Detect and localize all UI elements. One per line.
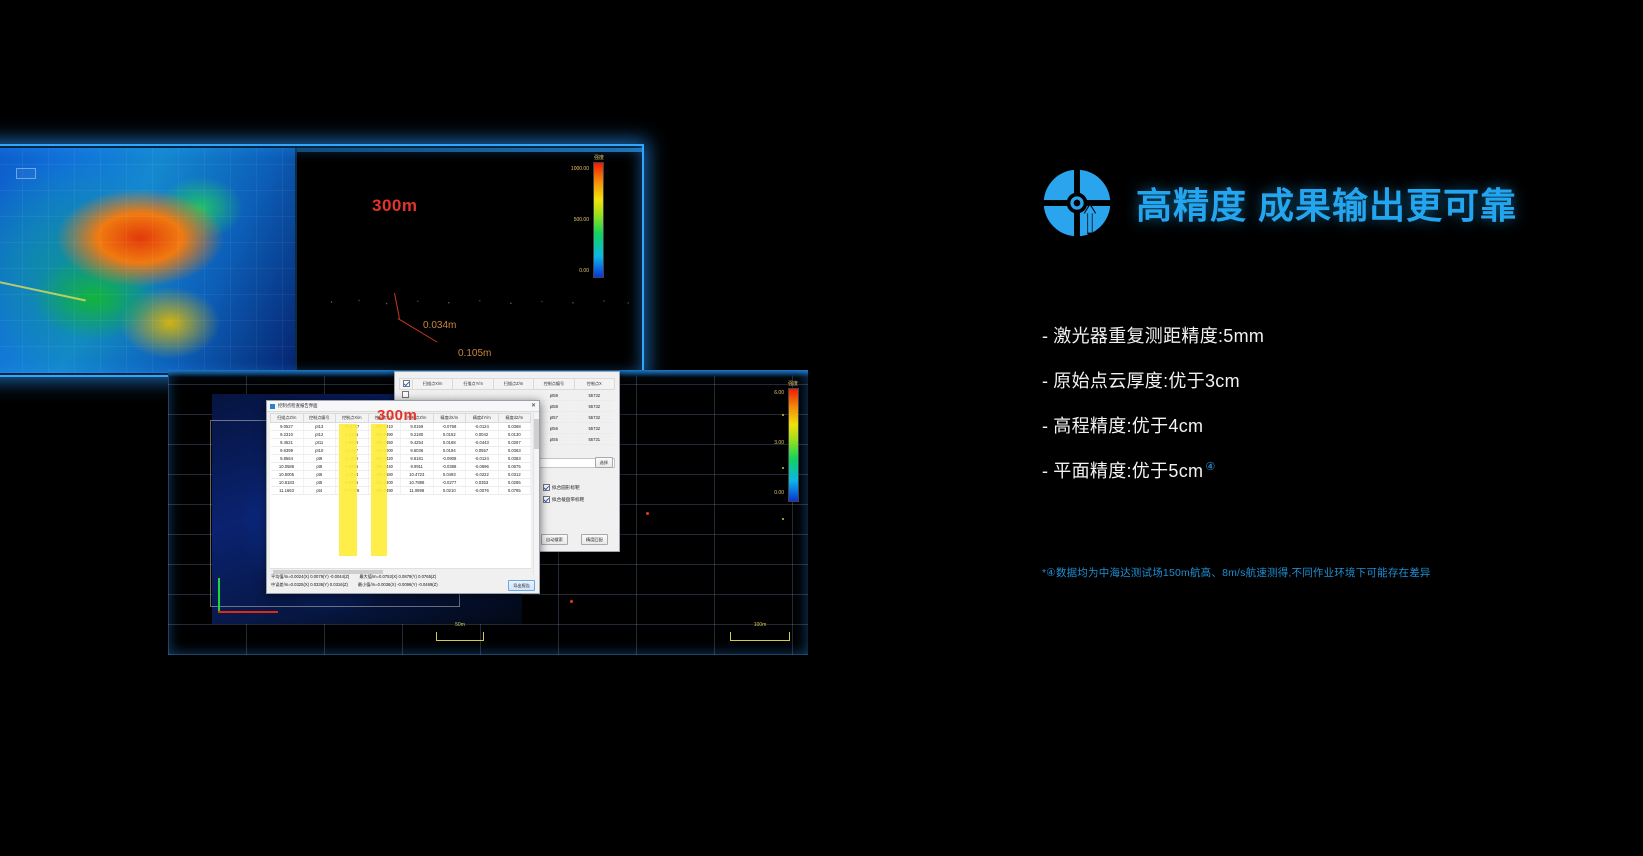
scalebar-left: 50m	[436, 632, 484, 641]
marker-point-small	[782, 414, 784, 416]
table-cell: 9.8564	[271, 455, 304, 463]
footnote-marker: ④	[1205, 461, 1215, 473]
table-cell: 0.0765	[498, 487, 531, 495]
fit-prism-target-option[interactable]: 拟合棱盘带标靶	[543, 496, 584, 503]
highlight-column-y	[371, 424, 387, 556]
table-cell: pt4	[303, 487, 336, 495]
table-cell: -0.0076	[466, 487, 499, 495]
table-cell: 9.4254	[401, 439, 434, 447]
summary-row-rmse: 中误差/m=0.0325(X) 0.0336(Y) 0.0316(Z) 最小值/…	[267, 580, 539, 590]
bullet-text: 平面精度:优于5cm	[1053, 461, 1203, 481]
bullet-dash: -	[1042, 371, 1048, 391]
back-col-header: 扫描点Y/m	[453, 379, 493, 390]
front-window-distance-overlay: 300m	[377, 407, 417, 424]
report-table[interactable]: 扫描点Z/m控制点编号控制点X/m控制点Y/m控制点Z/m精度dX/m精度dY/…	[270, 413, 531, 495]
axis-z-indicator	[218, 578, 220, 612]
table-cell: 55732	[574, 390, 614, 401]
back-col-header: 控制点编号	[534, 379, 574, 390]
control-point-report-window[interactable]: 控制点检查报告界面 ✕ 扫描点Z/m控制点编号控制点X/m控制点Y/m控制点Z/…	[266, 400, 540, 594]
back-col-header: 控制点X	[574, 379, 614, 390]
front-window-title: 控制点检查报告界面	[278, 403, 318, 409]
table-cell: -0.0768	[433, 423, 466, 431]
table-cell: pt9	[303, 455, 336, 463]
table-row[interactable]: 10.8183pt59.9206441.940010.7898-0.02770.…	[271, 479, 531, 487]
scalebar-right: 100m	[730, 632, 790, 641]
table-row[interactable]: 9.8564pt95.1178387.44209.8181-0.0908-0.0…	[271, 455, 531, 463]
table-cell: pt8	[303, 463, 336, 471]
table-cell: -0.0124	[466, 455, 499, 463]
table-cell: pt11	[303, 439, 336, 447]
table-cell: 10.5005	[271, 471, 304, 479]
measure-annotation-1: 0.034m	[423, 320, 456, 331]
spec-bullet-1: -激光器重复测距精度:5mm	[1042, 322, 1582, 348]
table-cell	[453, 390, 493, 401]
table-row[interactable]: 10.5005pt62.1934425.658010.47230.0493-0.…	[271, 471, 531, 479]
select-all-header[interactable]	[400, 379, 413, 390]
table-row[interactable]: 9.4521pt115.8900365.28509.42540.0168-0.0…	[271, 439, 531, 447]
table-cell: 9.2310	[271, 431, 304, 439]
table-cell: 0.0285	[498, 479, 531, 487]
table-cell: 9.6036	[401, 447, 434, 455]
summary-rmse-left: 中误差/m=0.0325(X) 0.0336(Y) 0.0316(Z)	[271, 582, 348, 588]
marker-point	[646, 512, 649, 515]
table-cell: 0.0210	[433, 487, 466, 495]
bullet-dash: -	[1042, 416, 1048, 436]
bottom-colorbar	[788, 388, 799, 502]
table-cell: 9.0527	[271, 423, 304, 431]
window-app-icon	[270, 404, 275, 409]
measure-annotation-2: 0.105m	[458, 348, 491, 359]
target-crosshair-arrow-icon	[1040, 166, 1114, 240]
profile-point-scatter	[297, 294, 642, 310]
auto-search-button[interactable]: 自动搜索	[541, 534, 568, 545]
bullet-text: 高程精度:优于4cm	[1053, 416, 1203, 436]
table-cell: -0.0388	[433, 463, 466, 471]
table-cell: -0.0222	[466, 471, 499, 479]
close-icon[interactable]: ✕	[531, 403, 536, 409]
export-report-button[interactable]: 导出报告	[508, 580, 535, 591]
table-cell: -0.0124	[466, 423, 499, 431]
table-cell: 0.0557	[466, 447, 499, 455]
fit-circle-target-option[interactable]: 拟合圆形标靶	[543, 484, 580, 491]
row-checkbox-cell[interactable]	[400, 390, 413, 401]
table-cell: 10.7898	[401, 479, 434, 487]
fit-circle-label: 拟合圆形标靶	[552, 485, 580, 491]
report-col-header: 精度dX/m	[433, 414, 466, 423]
bottom-colorbar-tick: 0.00	[756, 490, 784, 496]
table-cell: 10.4723	[401, 471, 434, 479]
spec-bullet-4: -平面精度:优于5cm④	[1042, 457, 1582, 483]
table-cell: 9.6399	[271, 447, 304, 455]
profile-colorbar-tick: 1000.00	[559, 166, 589, 172]
marker-point-small	[782, 518, 784, 520]
table-cell: 55732	[574, 423, 614, 434]
table-cell: pt5	[303, 479, 336, 487]
table-cell: 9.2180	[401, 431, 434, 439]
headline-block: 高精度 成果输出更可靠	[1040, 166, 1517, 240]
table-cell: 55731	[574, 434, 614, 445]
profile-section-view[interactable]: 300m 0.034m 0.105m 强度 1000.00 500.00 0.0…	[295, 148, 642, 373]
table-cell: -0.0908	[433, 455, 466, 463]
spec-bullet-list: -激光器重复测距精度:5mm-原始点云厚度:优于3cm-高程精度:优于4cm-平…	[1042, 322, 1582, 502]
table-cell: 11.0898	[401, 487, 434, 495]
table-cell: 9.4521	[271, 439, 304, 447]
table-cell: pt59	[534, 390, 574, 401]
pointcloud-map-view[interactable]	[0, 148, 295, 373]
table-cell: 0.0312	[498, 471, 531, 479]
profile-titlebar	[297, 148, 642, 152]
report-col-header: 控制点编号	[303, 414, 336, 423]
fit-prism-checkbox[interactable]	[543, 496, 550, 503]
imagery-composition: 300m 0.034m 0.105m 强度 1000.00 500.00 0.0…	[0, 0, 870, 700]
back-table-header-row: 扫描点X/m 扫描点Y/m 扫描点Z/m 控制点编号 控制点X	[400, 379, 615, 390]
bullet-dash: -	[1042, 326, 1048, 346]
table-cell: 0.0130	[498, 431, 531, 439]
row-checkbox[interactable]	[402, 391, 409, 398]
table-cell: 9.8181	[401, 455, 434, 463]
table-cell: 0.0383	[498, 455, 531, 463]
scalebar-left-label: 50m	[455, 622, 465, 628]
table-row[interactable]: 10.0586pt89.8296398.34409.9911-0.0388-0.…	[271, 463, 531, 471]
back-col-header: 扫描点Z/m	[493, 379, 533, 390]
profile-colorbar-tick: 500.00	[559, 217, 589, 223]
table-row[interactable]: 9.6399pt100.2117376.00009.60360.01940.05…	[271, 447, 531, 455]
table-cell: 0.0675	[498, 463, 531, 471]
table-cell: pt12	[303, 431, 336, 439]
report-col-header: 精度dY/m	[466, 414, 499, 423]
table-cell: 0.0042	[466, 431, 499, 439]
table-cell: 0.0363	[498, 447, 531, 455]
table-cell: -0.0277	[433, 479, 466, 487]
table-cell: 0.0152	[433, 431, 466, 439]
back-col-header: 扫描点X/m	[413, 379, 453, 390]
profile-distance-label: 300m	[372, 196, 417, 216]
scalebar-right-label: 100m	[754, 622, 767, 628]
profile-colorbar-title: 强度	[594, 154, 604, 161]
precision-match-button[interactable]: 精度匹配	[581, 534, 608, 545]
marker-point	[570, 600, 573, 603]
marker-point-small	[782, 467, 784, 469]
table-cell: 0.0353	[466, 479, 499, 487]
summary-rmse-right: 最小值/m=0.0036(X) -0.0096(Y) -0.0469(Z)	[358, 582, 438, 588]
table-row[interactable]: 11.1663pt427.7376458.049011.08980.0210-0…	[271, 487, 531, 495]
spec-bullet-3: -高程精度:优于4cm	[1042, 412, 1582, 438]
map-label-box	[16, 168, 36, 179]
page-title: 高精度 成果输出更可靠	[1136, 177, 1517, 229]
map-grid-overlay	[0, 148, 295, 373]
report-col-header: 扫描点Z/m	[271, 414, 304, 423]
table-cell: pt10	[303, 447, 336, 455]
table-cell: 55732	[574, 412, 614, 423]
profile-colorbar	[593, 162, 604, 278]
table-cell: 0.0368	[498, 423, 531, 431]
report-col-header: 精度dZ/m	[498, 414, 531, 423]
table-cell: 0.0267	[498, 439, 531, 447]
top-strip-panel: 300m 0.034m 0.105m 强度 1000.00 500.00 0.0…	[0, 148, 640, 373]
fit-prism-label: 拟合棱盘带标靶	[552, 497, 584, 503]
right-content-column: 高精度 成果输出更可靠 -激光器重复测距精度:5mm-原始点云厚度:优于3cm-…	[1040, 0, 1600, 856]
report-col-header: 控制点X/m	[336, 414, 369, 423]
table-cell: 55732	[574, 401, 614, 412]
table-cell: pt6	[303, 471, 336, 479]
bullet-dash: -	[1042, 461, 1048, 481]
axis-x-indicator	[218, 611, 278, 613]
table-cell: 10.8183	[271, 479, 304, 487]
table-cell: 0.0168	[433, 439, 466, 447]
spec-bullet-2: -原始点云厚度:优于3cm	[1042, 367, 1582, 393]
table-cell	[493, 390, 533, 401]
table-cell: 9.9911	[401, 463, 434, 471]
table-row[interactable]: pt5955732	[400, 390, 615, 401]
bottom-colorbar-tick: 3.00	[756, 440, 784, 446]
vertical-scrollbar[interactable]	[533, 413, 539, 575]
select-button[interactable]: 选择	[595, 457, 613, 468]
bullet-text: 激光器重复测距精度:5mm	[1053, 326, 1264, 346]
vertical-scroll-thumb[interactable]	[534, 419, 539, 449]
bullet-text: 原始点云厚度:优于3cm	[1053, 371, 1240, 391]
profile-colorbar-tick: 0.00	[559, 268, 589, 274]
table-cell: 0.0194	[433, 447, 466, 455]
select-all-checkbox[interactable]	[403, 380, 410, 387]
bottom-colorbar-title: 强度	[788, 380, 798, 387]
footnote-text: *④数据均为中海达测试场150m航高、8m/s航速测得,不同作业环境下可能存在差…	[1042, 565, 1431, 580]
table-cell: 11.1663	[271, 487, 304, 495]
table-cell: 10.0586	[271, 463, 304, 471]
highlight-column-x	[339, 424, 357, 556]
bottom-colorbar-tick: 6.00	[756, 390, 784, 396]
table-cell: -0.0443	[466, 439, 499, 447]
table-cell: 0.0493	[433, 471, 466, 479]
table-cell	[413, 390, 453, 401]
table-row[interactable]: 9.2310pt121.4145354.33909.21800.01520.00…	[271, 431, 531, 439]
table-cell: -0.0696	[466, 463, 499, 471]
table-cell: pt13	[303, 423, 336, 431]
fit-circle-checkbox[interactable]	[543, 484, 550, 491]
